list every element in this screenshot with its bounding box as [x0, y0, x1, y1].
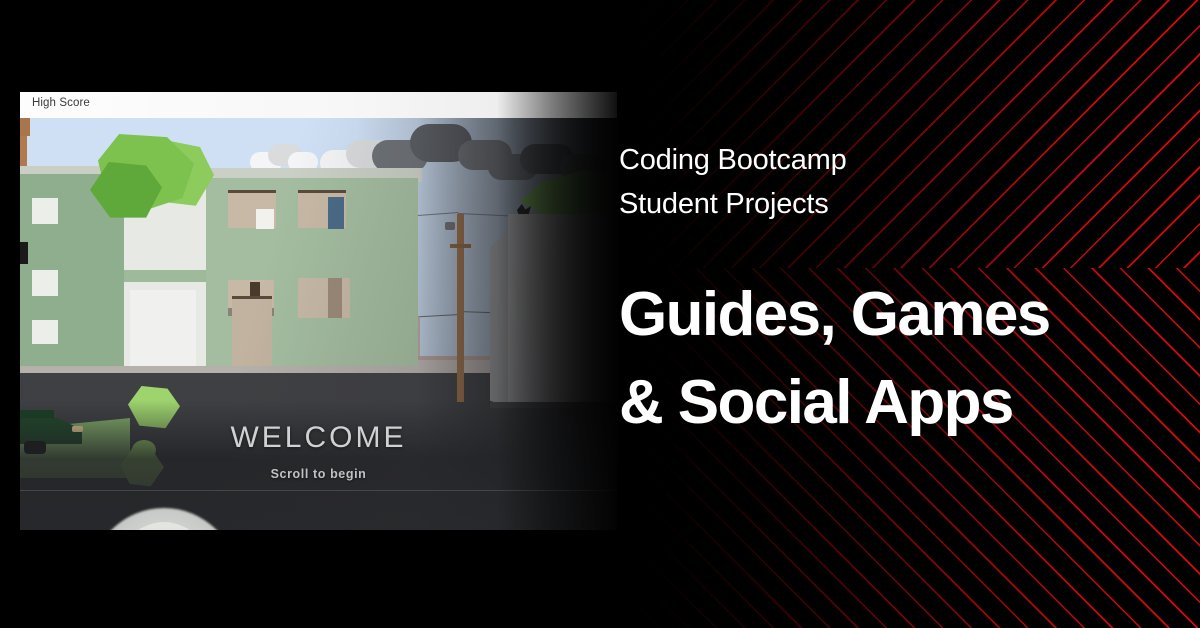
slide-canvas: High Score	[0, 0, 1200, 628]
hero-subtitle: Scroll to begin	[20, 467, 617, 481]
webcam-video	[112, 522, 216, 530]
high-score-label: High Score	[32, 97, 90, 109]
divider	[20, 490, 617, 491]
project-screenshot-card[interactable]: High Score	[20, 92, 617, 530]
slide-headline: Guides, Games & Social Apps	[619, 271, 1139, 447]
game-topbar: High Score	[20, 92, 617, 118]
low-poly-game-scene: WELCOME Scroll to begin	[20, 118, 617, 530]
webcam-overlay[interactable]	[90, 508, 238, 530]
hero-text-block: WELCOME Scroll to begin	[20, 421, 617, 481]
webcam-background-green	[112, 522, 126, 530]
hero-title: WELCOME	[20, 421, 617, 455]
slide-eyebrow: Coding Bootcamp Student Projects	[619, 138, 1139, 226]
webcam-background	[112, 522, 216, 530]
slide-text-block: Coding Bootcamp Student Projects Guides,…	[619, 138, 1139, 447]
